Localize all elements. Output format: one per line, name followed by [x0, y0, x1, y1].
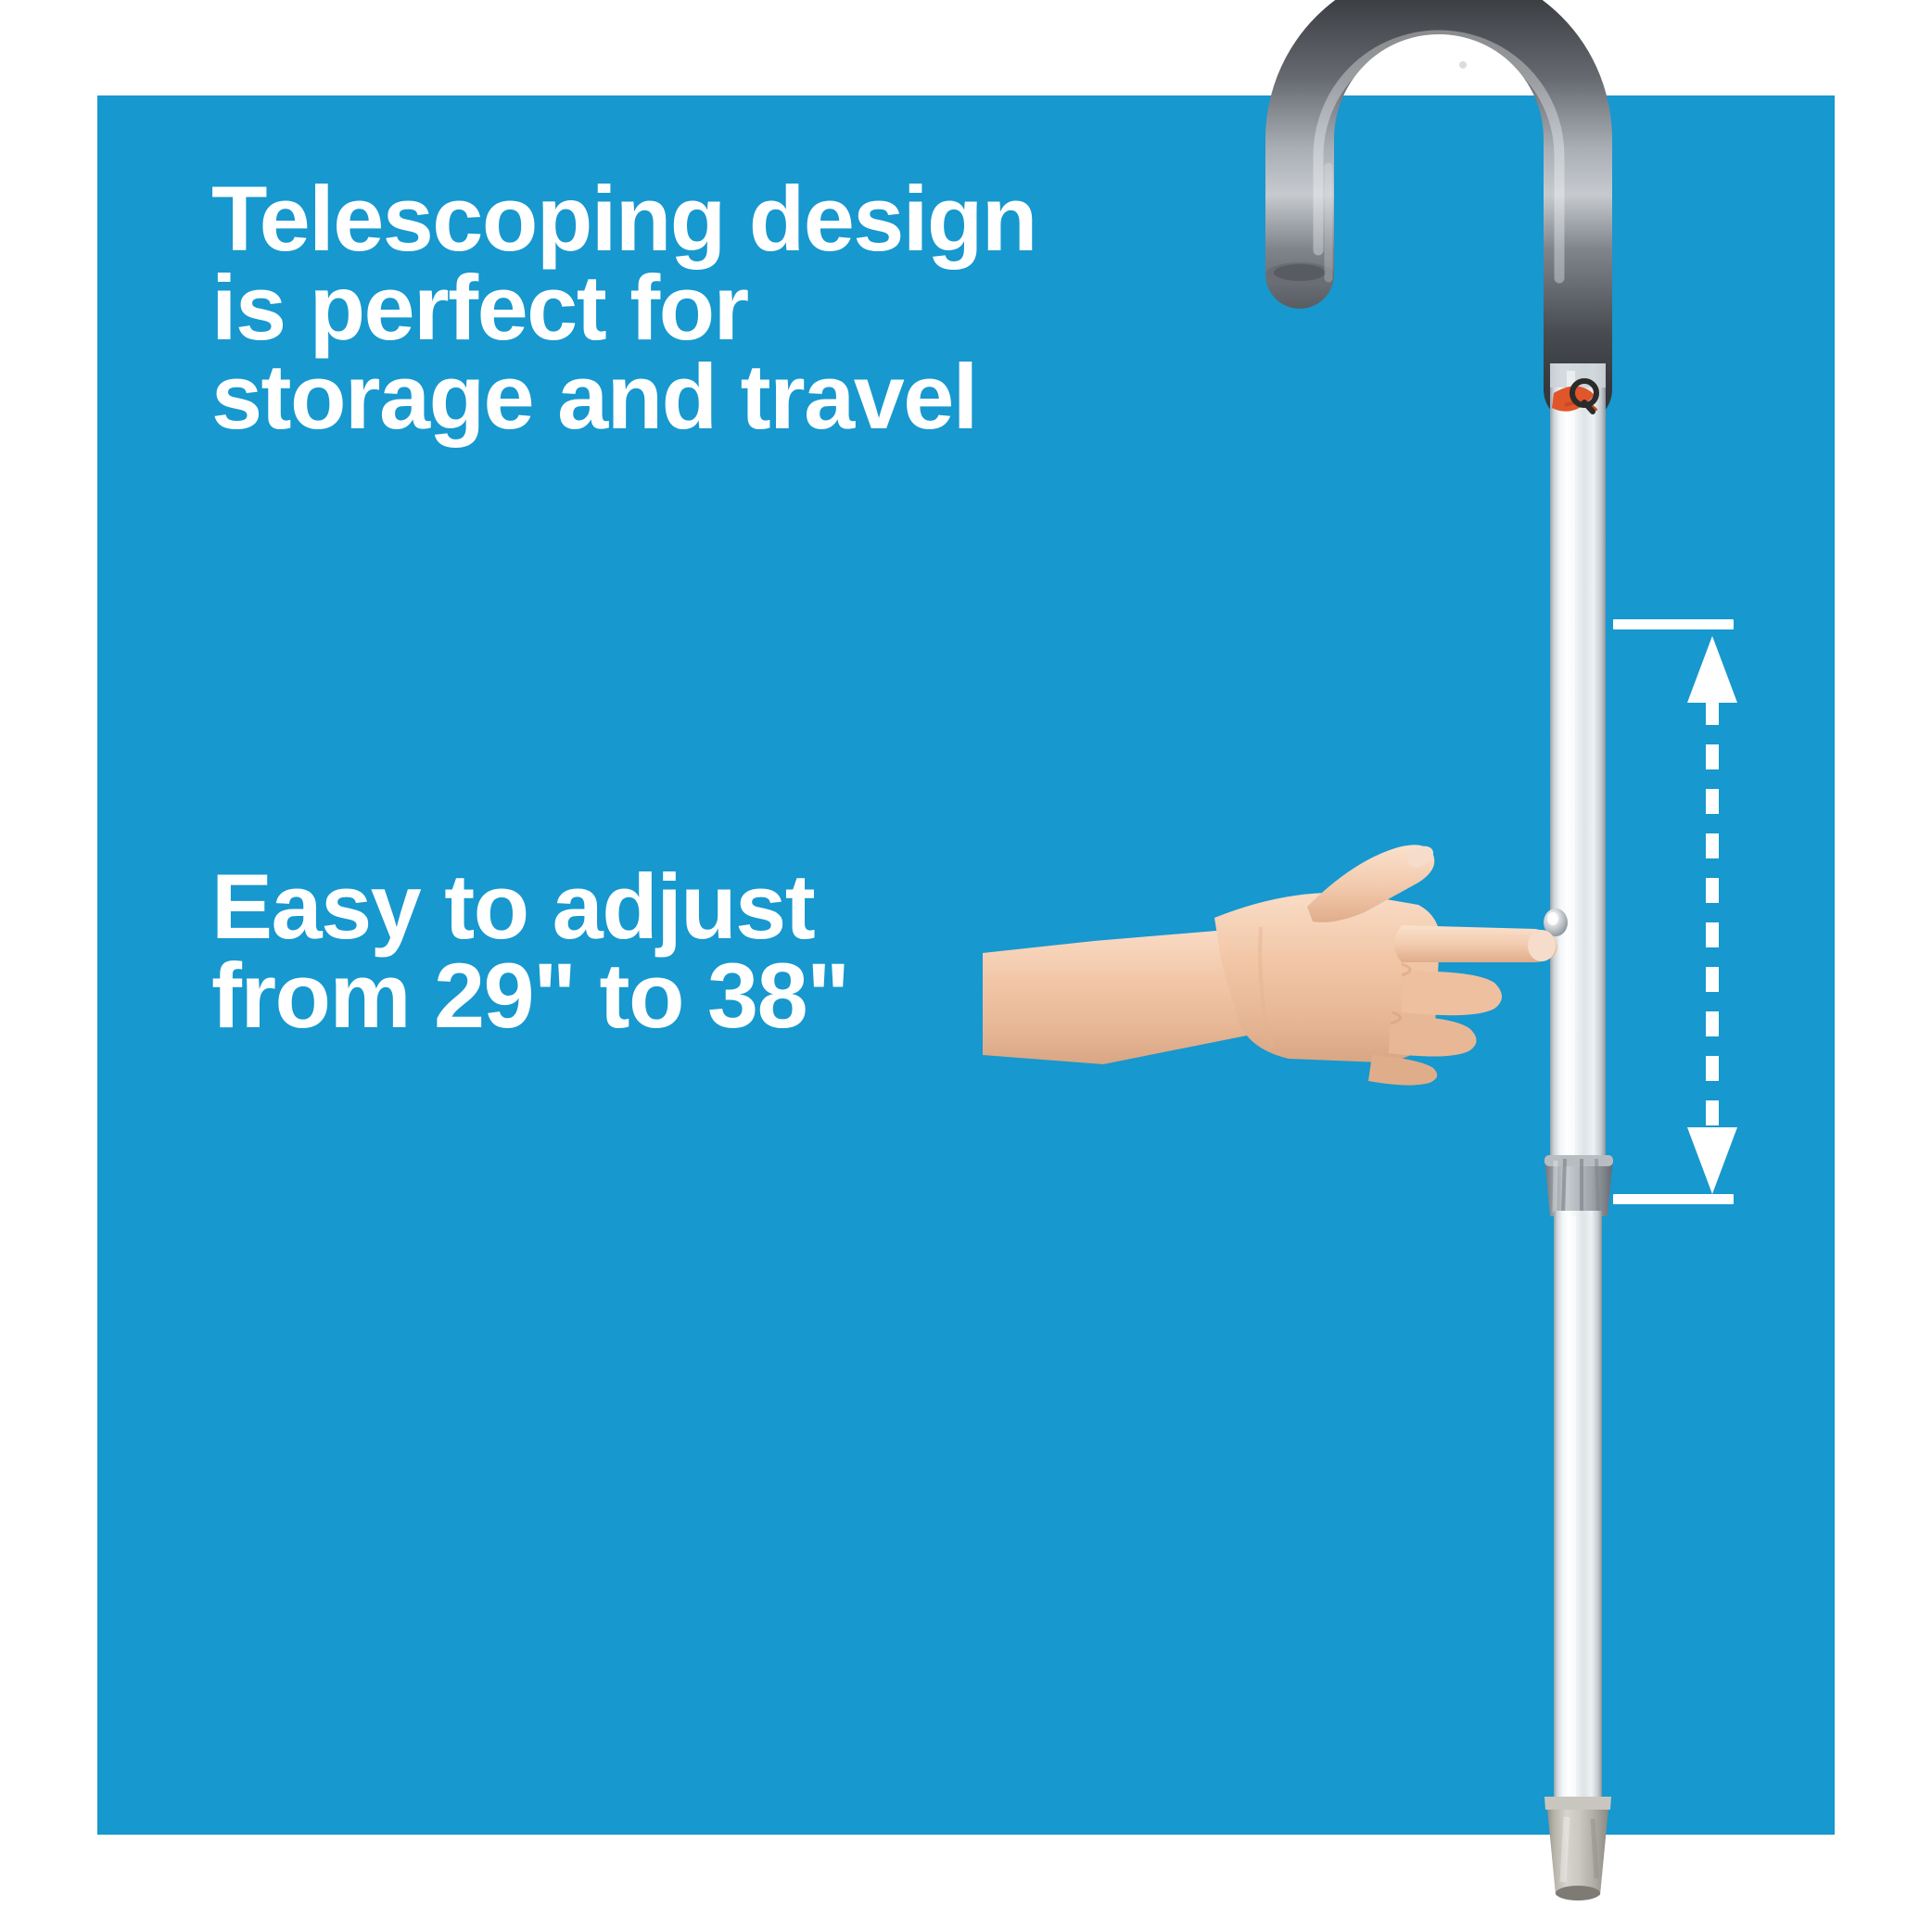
headline-line-3: storage and travel — [211, 352, 1036, 441]
subhead-text: Easy to adjust from 29" to 38" — [211, 862, 849, 1040]
dimension-dashed-line — [1706, 700, 1719, 1136]
headline-line-2: is perfect for — [211, 263, 1036, 352]
dimension-top-cap — [1613, 619, 1734, 629]
arrow-up-icon — [1687, 636, 1737, 703]
pointing-hand — [983, 816, 1576, 1094]
arrow-down-icon — [1687, 1127, 1737, 1194]
headline-line-1: Telescoping design — [211, 174, 1036, 263]
headline-text: Telescoping design is perfect for storag… — [211, 174, 1036, 441]
subhead-line-2: from 29" to 38" — [211, 951, 849, 1040]
subhead-line-1: Easy to adjust — [211, 862, 849, 951]
product-feature-image: Telescoping design is perfect for storag… — [0, 0, 1932, 1932]
dimension-bottom-cap — [1613, 1194, 1734, 1204]
